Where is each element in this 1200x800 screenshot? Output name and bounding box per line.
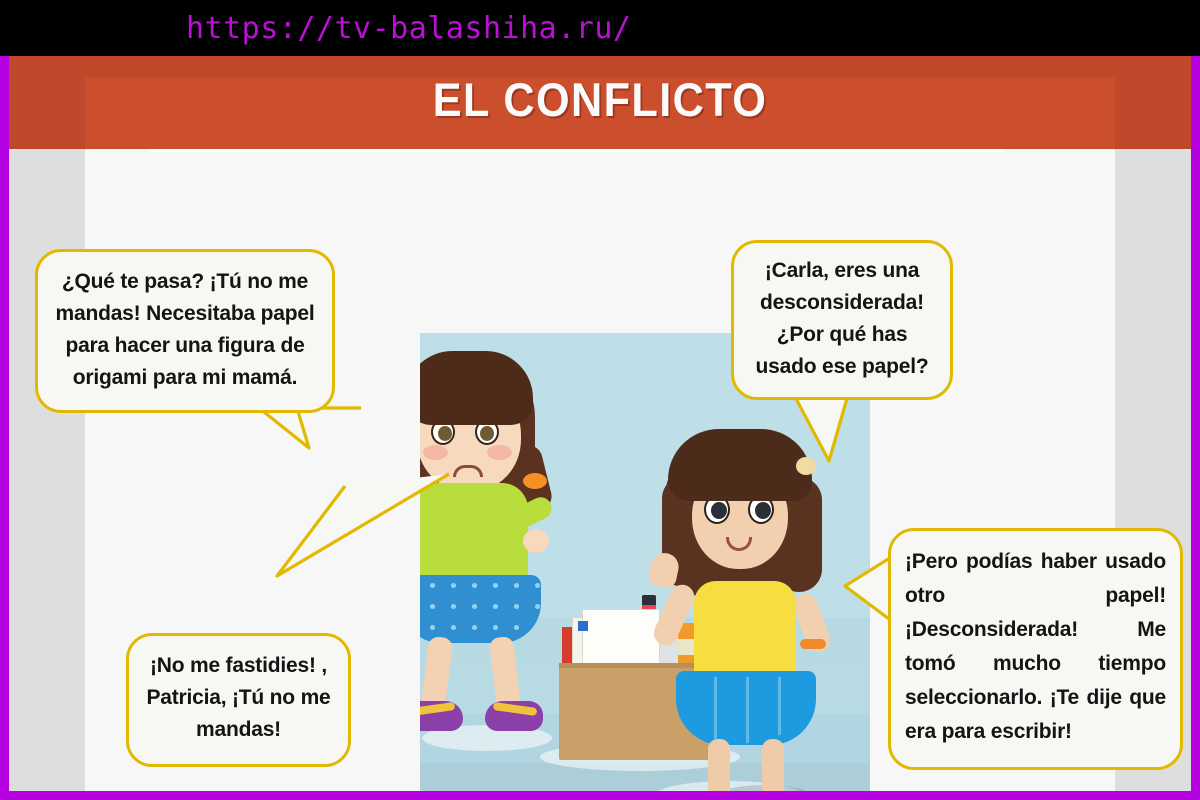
- leg-left: [708, 739, 730, 791]
- skirt-pattern: [420, 575, 541, 643]
- leg-right: [489, 636, 522, 710]
- leg-right: [762, 739, 784, 791]
- tank-top: [694, 581, 796, 679]
- illustration-scene: [420, 333, 870, 791]
- arm-left-pointing: [650, 581, 698, 649]
- skirt-fold: [746, 677, 749, 743]
- cheek-left: [423, 445, 448, 460]
- hair-front: [668, 429, 812, 501]
- skirt-fold: [714, 677, 717, 739]
- hair-front: [420, 351, 533, 425]
- leg-left: [421, 636, 454, 710]
- cheek-right: [487, 445, 512, 460]
- paper-clip-blue: [578, 621, 588, 631]
- pupil-left: [711, 502, 727, 519]
- page-title: EL CONFLICTO: [56, 72, 1143, 127]
- hand-right: [523, 529, 549, 553]
- speech-bubble-accusation: ¡Carla, eres una desconsiderada! ¿Por qu…: [731, 240, 953, 400]
- speech-bubble-question: ¿Qué te pasa? ¡Tú no me mandas! Necesita…: [35, 249, 335, 413]
- mouth-frown: [453, 465, 483, 477]
- character-girl-right: [642, 433, 862, 791]
- watermark-url: https://tv-balashiha.ru/: [186, 11, 631, 46]
- speech-bubble-retort: ¡No me fastidies! , Patricia, ¡Tú no me …: [126, 633, 351, 767]
- slide-frame: EL CONFLICTO: [0, 56, 1200, 800]
- bubble-text: ¿Qué te pasa? ¡Tú no me mandas! Necesita…: [56, 270, 315, 389]
- title-underline: [149, 149, 1004, 152]
- bubble-text: ¡Carla, eres una desconsiderada! ¿Por qu…: [755, 259, 928, 378]
- shirt: [420, 483, 528, 585]
- hair-bow-right: [523, 473, 547, 489]
- bubble-text: ¡No me fastidies! , Patricia, ¡Tú no me …: [146, 654, 330, 741]
- pupil-right: [755, 502, 771, 519]
- hair-clip: [796, 457, 816, 475]
- bubble-text: ¡Pero podías haber usado otro papel! ¡De…: [905, 550, 1166, 743]
- title-banner: EL CONFLICTO: [9, 56, 1191, 149]
- pupil-right: [480, 426, 494, 441]
- skirt: [420, 575, 541, 643]
- pupil-left: [438, 426, 452, 441]
- screenshot-root: https://tv-balashiha.ru/ EL CONFLICTO: [0, 0, 1200, 800]
- watermark-bar: https://tv-balashiha.ru/: [0, 0, 1200, 56]
- wrist-band: [800, 639, 826, 649]
- skirt-fold: [778, 677, 781, 735]
- speech-bubble-reply: ¡Pero podías haber usado otro papel! ¡De…: [888, 528, 1183, 770]
- slide-content: EL CONFLICTO: [9, 56, 1191, 791]
